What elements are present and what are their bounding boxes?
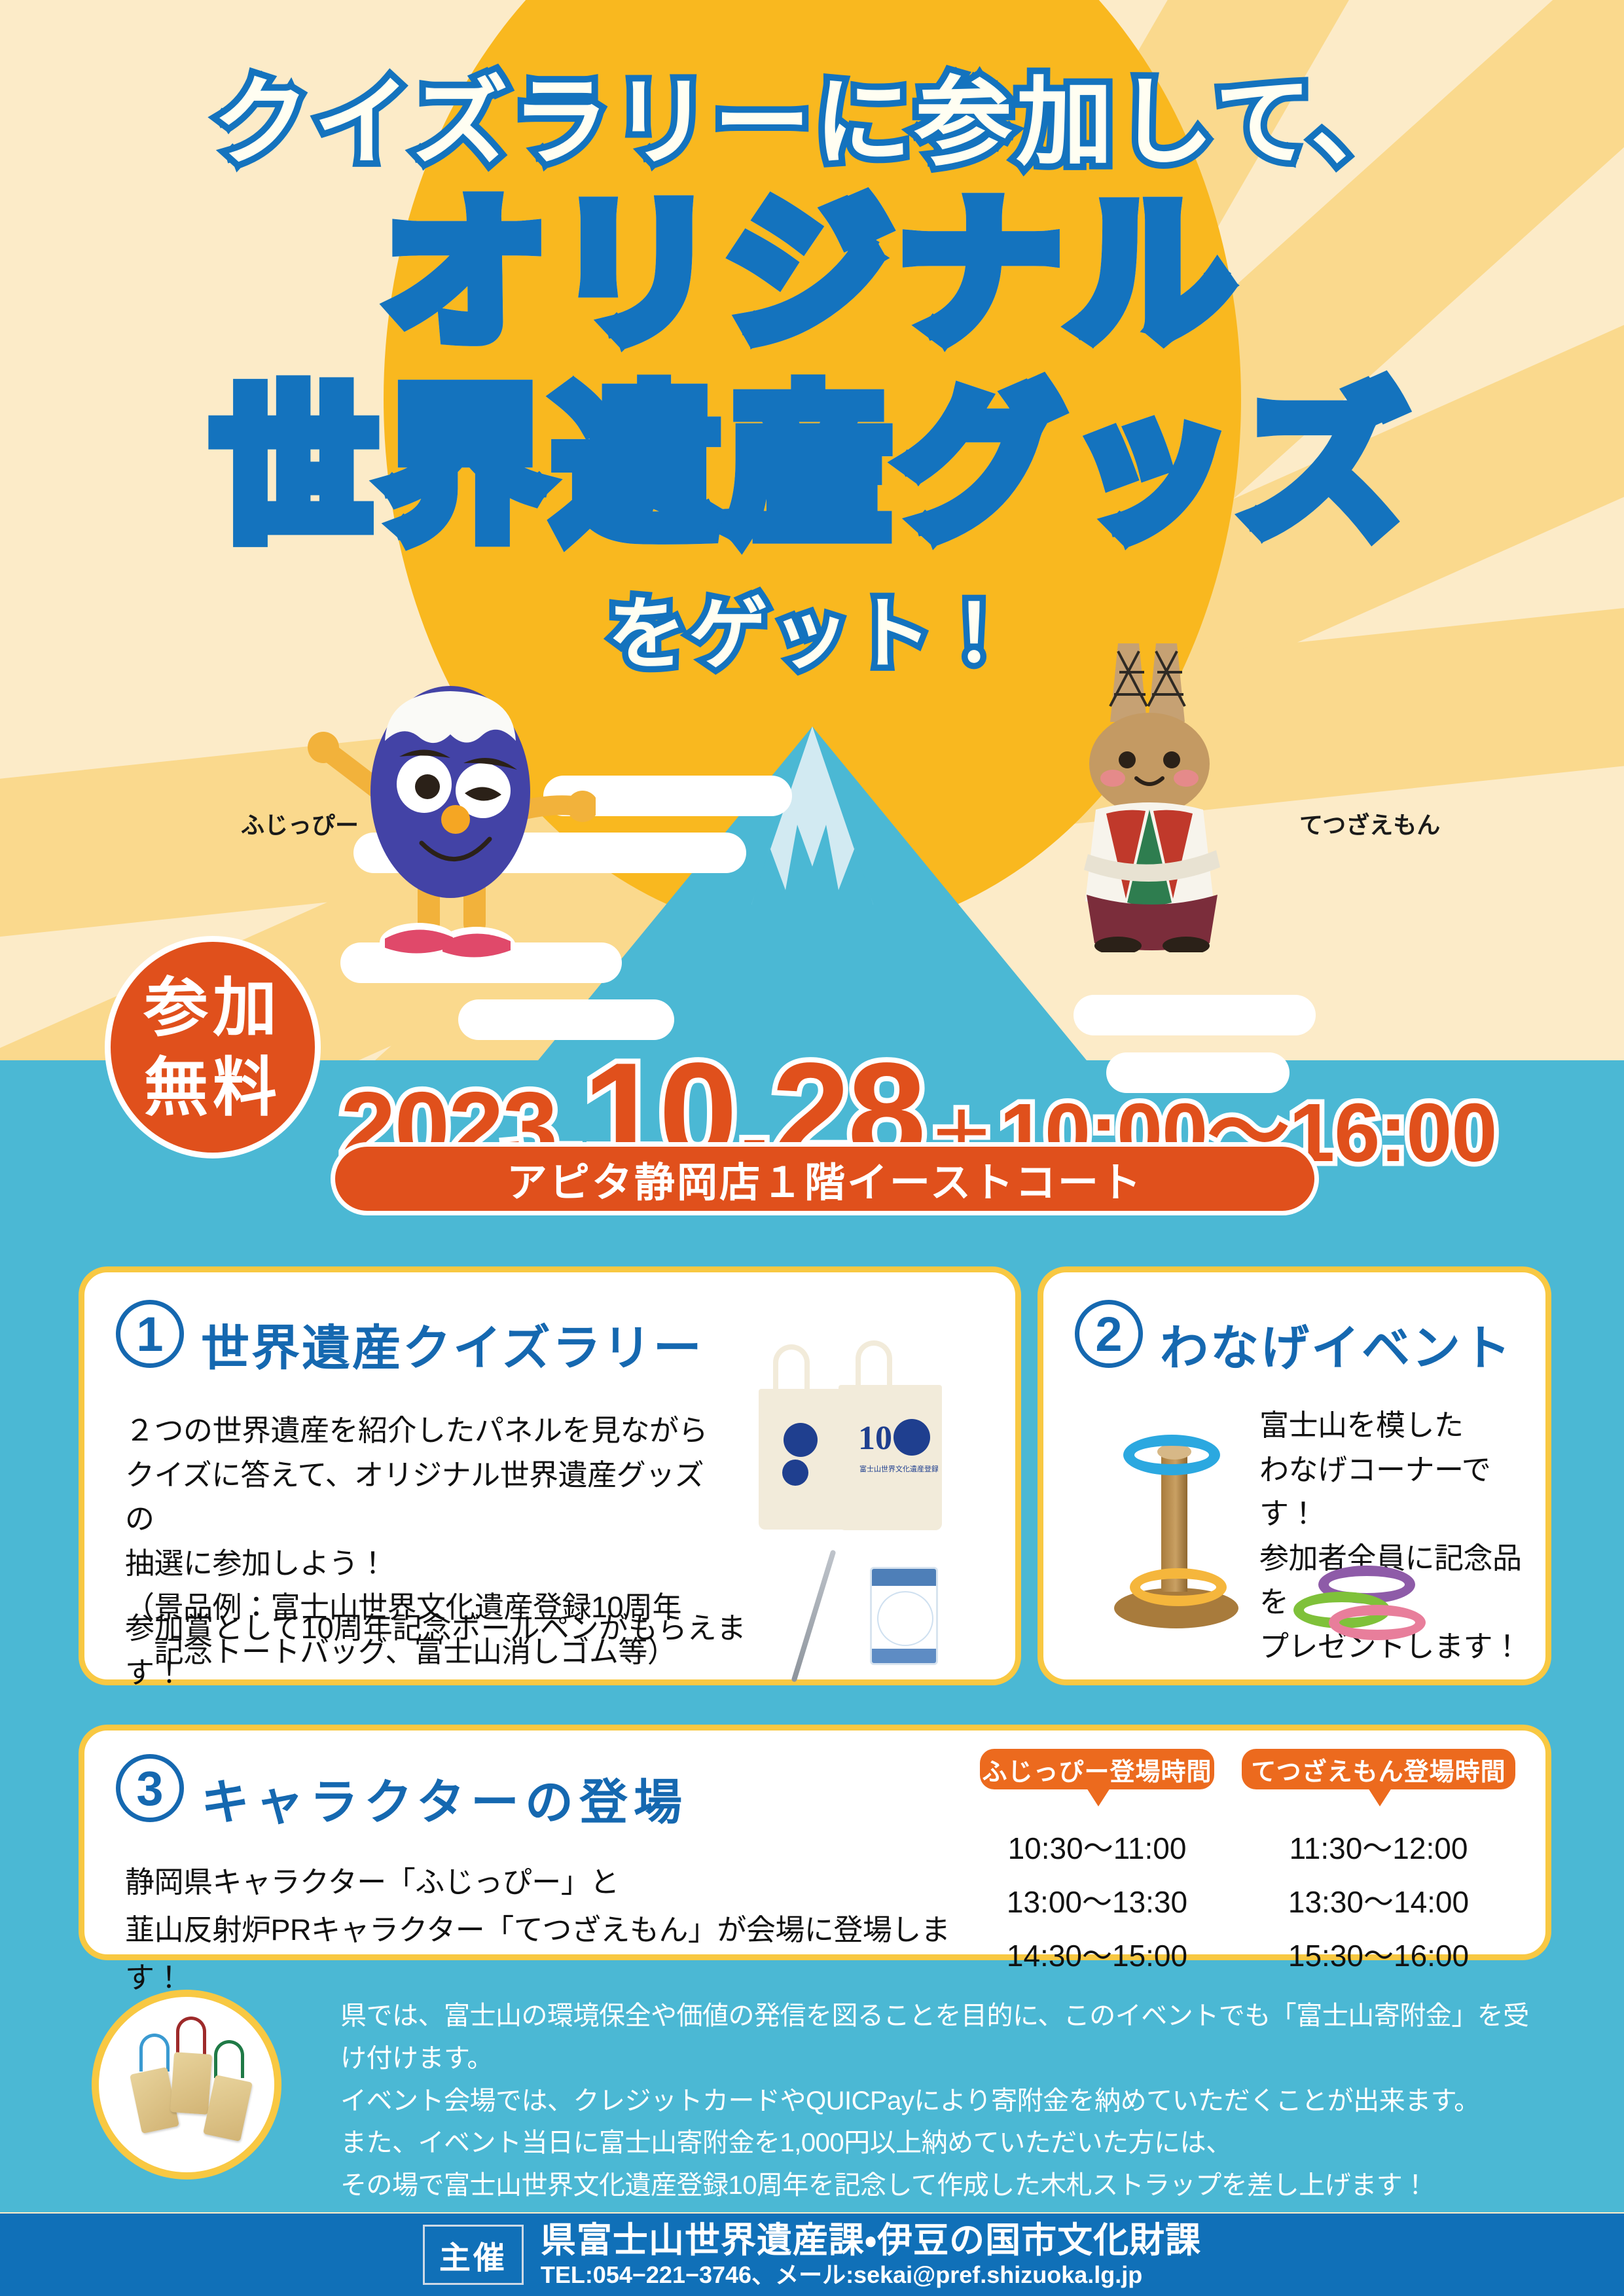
headline-line-2: オリジナル: [0, 183, 1624, 366]
footer-bar: 主催 県富士山世界遺産課・伊豆の国市文化財課 TEL:054−221−3746、…: [0, 2214, 1624, 2296]
free-participation-badge: 参加 無料: [105, 936, 321, 1158]
schedule-time: 13:00〜13:30: [980, 1876, 1214, 1929]
panel-3-number: 3: [116, 1754, 184, 1822]
donation-line-4: その場で富士山世界文化遺産登録10周年を記念して作成した木札ストラップを差し上げ…: [340, 2164, 1545, 2207]
donation-line-3: また、イベント当日に富士山寄附金を1,000円以上納めていただいた方には、: [340, 2122, 1545, 2164]
free-badge-line-2: 無料: [144, 1047, 281, 1128]
panel-quiz-rally: 1 世界遺産クイズラリー ２つの世界遺産を紹介したパネルを見ながら クイズに答え…: [79, 1266, 1021, 1685]
panel-ring-toss: 2 わなげイベント 富士山を模した わなげコーナーです！ 参加者全員に記念品を …: [1038, 1266, 1551, 1685]
schedule-time: 15:30〜16:00: [1242, 1929, 1515, 1983]
schedule-time: 14:30〜15:00: [980, 1929, 1214, 1983]
panel-2-number: 2: [1075, 1300, 1143, 1368]
schedule-badge-tetsuzaemon-label: てつざえもん登場時間: [1251, 1751, 1506, 1787]
schedule-badge-tetsuzaemon: てつざえもん登場時間: [1242, 1749, 1515, 1789]
panel-1-number: 1: [116, 1300, 184, 1368]
schedule-time: 11:30〜12:00: [1242, 1822, 1515, 1876]
schedule-badge-fujippy-label: ふじっぴー登場時間: [982, 1751, 1212, 1787]
ballpoint-pen-image: [791, 1549, 836, 1682]
event-venue-text: アピタ静岡店１階イーストコート: [507, 1149, 1143, 1208]
host-label-box: 主催: [423, 2225, 524, 2285]
mascot-fujippy-label: ふじっぴー: [241, 806, 359, 840]
panel-character-appearance: 3 キャラクターの登場 静岡県キャラクター「ふじっぴー」と 韮山反射炉PRキャラ…: [79, 1725, 1551, 1960]
event-venue-banner: アピタ静岡店１階イーストコート: [331, 1142, 1319, 1215]
footer-text-group: 県富士山世界遺産課・伊豆の国市文化財課 TEL:054−221−3746、メール…: [541, 2221, 1201, 2289]
fuji-eraser-image: [870, 1567, 938, 1665]
schedule-badge-fujippy: ふじっぴー登場時間: [980, 1749, 1214, 1789]
headline-line-3: 世界遺産グッズ: [0, 375, 1624, 558]
panel-2-title: わなげイベント: [1160, 1309, 1513, 1379]
mascot-tetsuzaemon-label: てつざえもん: [1299, 806, 1440, 840]
schedule-time: 10:30〜11:00: [980, 1822, 1214, 1876]
organizer-contact: TEL:054−221−3746、メール:sekai@pref.shizuoka…: [541, 2261, 1201, 2289]
donation-line-2: イベント会場では、クレジットカードやQUICPayにより寄附金を納めていただくこ…: [340, 2080, 1545, 2123]
mascot-fujippy: [308, 628, 596, 969]
donation-line-1: 県では、富士山の環境保全や価値の発信を図ることを目的に、このイベントでも「富士山…: [340, 1995, 1545, 2080]
donation-note: 県では、富士山の環境保全や価値の発信を図ることを目的に、このイベントでも「富士山…: [340, 1995, 1545, 2207]
schedule-time: 13:30〜14:00: [1242, 1876, 1515, 1929]
event-poster: クイズラリーに参加して、 オリジナル 世界遺産グッズ をゲット！: [0, 0, 1624, 2296]
svg-text:10: 10: [858, 1420, 892, 1457]
host-label: 主催: [439, 2241, 507, 2276]
mascot-tetsuzaemon: [1041, 638, 1263, 952]
free-badge-line-1: 参加: [144, 967, 281, 1048]
headline-line-4: をゲット！: [0, 570, 1624, 684]
panel-1-body-2: 参加賞として10周年記念ボールペンがもらえます！: [125, 1606, 753, 1696]
panel-1-title: 世界遺産クイズラリー: [201, 1309, 704, 1379]
panel-3-title: キャラクターの登場: [201, 1763, 688, 1833]
panel-3-body: 静岡県キャラクター「ふじっぴー」と 韮山反射炉PRキャラクター「てつざえもん」が…: [125, 1859, 956, 2002]
organizer-names: 県富士山世界遺産課・伊豆の国市文化財課: [541, 2221, 1201, 2260]
headline: クイズラリーに参加して、 オリジナル 世界遺産グッズ をゲット！: [0, 72, 1624, 684]
fuji-snowcap: [698, 726, 927, 923]
schedule-times-fujippy: 10:30〜11:00 13:00〜13:30 14:30〜15:00: [980, 1822, 1214, 1983]
schedule-times-tetsuzaemon: 11:30〜12:00 13:30〜14:00 15:30〜16:00: [1242, 1822, 1515, 1983]
wooden-strap-image: [92, 1990, 281, 2179]
svg-text:富士山世界文化遺産登録10周年記念: 富士山世界文化遺産登録10周年記念: [859, 1464, 938, 1473]
headline-line-1: クイズラリーに参加して、: [0, 72, 1624, 173]
